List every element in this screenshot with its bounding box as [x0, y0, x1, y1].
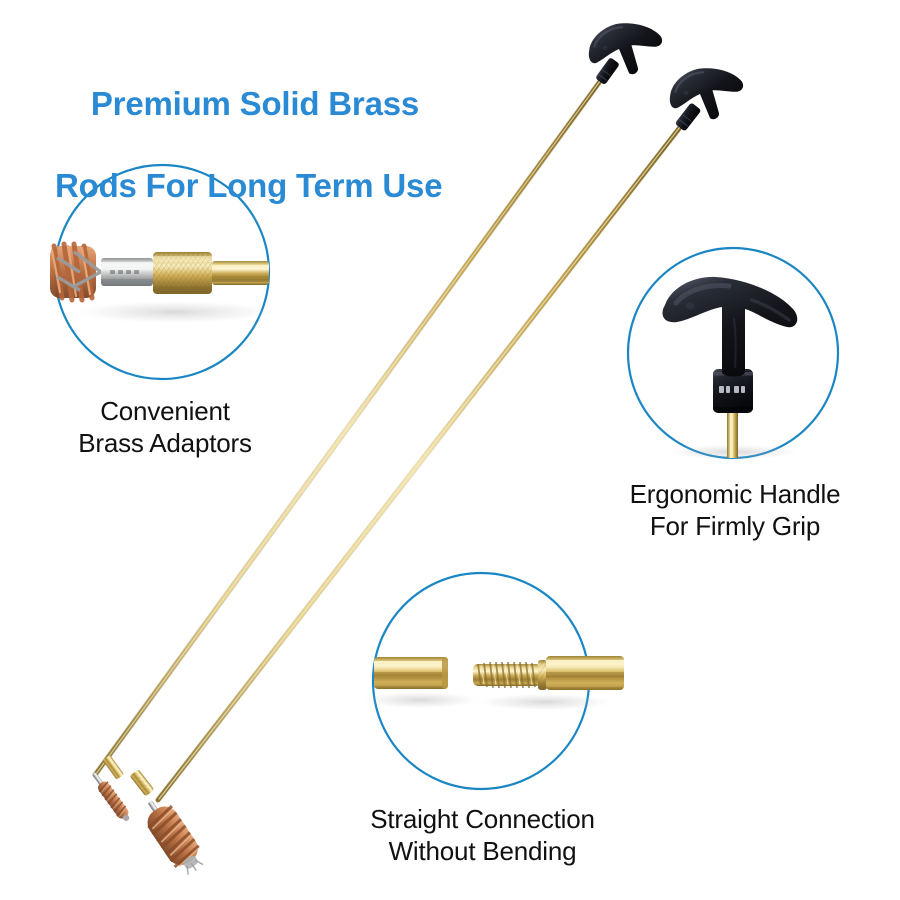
caption-straight-connection-line-2: Without Bending: [345, 835, 620, 867]
callout-ergonomic-handle: [628, 248, 838, 460]
rod-2-t-grip: [663, 58, 750, 130]
page-headline: Premium Solid Brass Rods For Long Term U…: [55, 42, 442, 288]
rod-2-brush-bristles: [142, 801, 209, 879]
rod-1-coupling: [103, 755, 125, 780]
connection-female-socket: [442, 657, 448, 689]
callout-art-straight-connection: [358, 656, 624, 711]
caption-brass-adaptors-line-1: Convenient: [0, 395, 330, 427]
caption-ergonomic-handle-line-2: For Firmly Grip: [580, 510, 890, 542]
caption-straight-connection-line-1: Straight Connection: [345, 803, 620, 835]
rod-2-brush: [136, 793, 209, 880]
caption-brass-adaptors-line-2: Brass Adaptors: [0, 427, 330, 459]
headline-line-2: Rods For Long Term Use: [55, 165, 442, 206]
headline-line-1: Premium Solid Brass: [91, 85, 419, 122]
caption-ergonomic-handle: Ergonomic Handle For Firmly Grip: [580, 478, 890, 542]
connection-male-threads: [473, 662, 541, 688]
caption-brass-adaptors: Convenient Brass Adaptors: [0, 395, 330, 459]
caption-straight-connection: Straight Connection Without Bending: [345, 803, 620, 867]
caption-ergonomic-handle-line-1: Ergonomic Handle: [580, 478, 890, 510]
rod-2-handle: [663, 58, 750, 132]
rod-1-handle: [582, 13, 669, 85]
rod-1-brush: [89, 770, 134, 825]
product-infographic-canvas: Premium Solid Brass Rods For Long Term U…: [0, 0, 900, 900]
callout-straight-connection: [358, 573, 624, 789]
connection-female-segment: [374, 657, 448, 689]
rod-1-brush-bristles: [96, 779, 134, 824]
rod-1-t-grip: [582, 13, 669, 85]
rod-2-adaptor: [130, 769, 155, 796]
